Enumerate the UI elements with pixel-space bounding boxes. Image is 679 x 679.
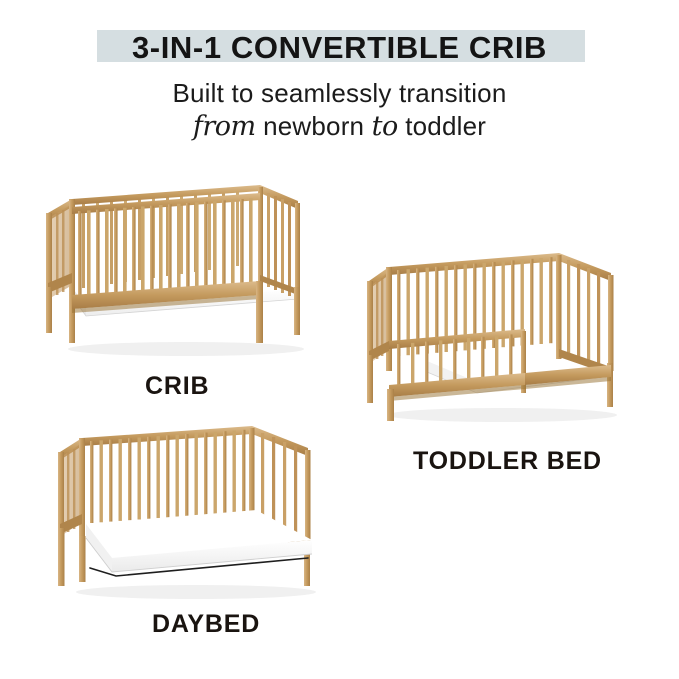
daybed-back-panel [82, 426, 252, 523]
subtitle-script-to: to [372, 111, 398, 142]
page-title: 3-IN-1 CONVERTIBLE CRIB [0, 26, 679, 70]
floor-shadow [68, 342, 304, 356]
daybed-left-end-panel [58, 438, 86, 586]
toddler-left-end-panel [367, 267, 392, 403]
crib-leg-front-right [256, 281, 263, 343]
subtitle-line-2: from newborn to toddler [0, 110, 679, 143]
crib-leg-back-right [294, 287, 300, 335]
daybed-illustration [56, 418, 336, 603]
subtitle-word-newborn: newborn [263, 111, 364, 141]
subtitle-word-toddler: toddler [405, 111, 486, 141]
floor-shadow [387, 408, 617, 422]
bed-label-crib: CRIB [145, 372, 209, 401]
subtitle-script-from: from [193, 111, 256, 142]
toddler-leg-front-left [387, 389, 394, 421]
subtitle-line-1: Built to seamlessly transition [0, 78, 679, 108]
toddler-bed-illustration [367, 243, 629, 428]
bed-label-daybed: DAYBED [152, 610, 260, 639]
crib-left-end-panel [46, 199, 75, 343]
infographic-page: 3-IN-1 CONVERTIBLE CRIB Built to seamles… [0, 0, 679, 679]
page-title-wrapper: 3-IN-1 CONVERTIBLE CRIB [0, 26, 679, 70]
floor-shadow [76, 585, 316, 599]
bed-label-toddler-bed: TODDLER BED [413, 447, 602, 476]
crib-illustration [46, 183, 316, 363]
